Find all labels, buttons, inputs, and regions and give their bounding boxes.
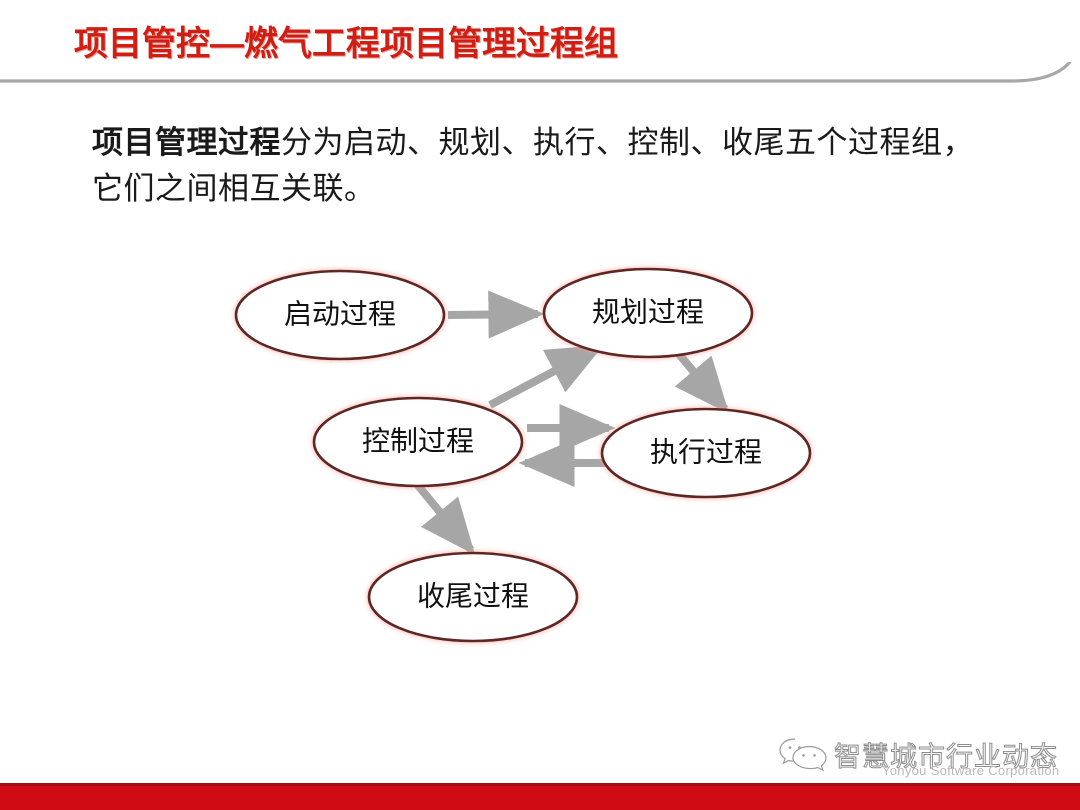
node-controlling[interactable]: 控制过程 <box>314 398 522 486</box>
node-initiating-label: 启动过程 <box>284 298 396 330</box>
diagram-nodes: 启动过程 规划过程 控制过程 执行过程 收尾过程 <box>236 269 810 641</box>
edge-controlling-to-planning <box>490 348 598 405</box>
node-executing-label: 执行过程 <box>650 436 762 468</box>
wechat-icon <box>778 735 830 775</box>
node-initiating[interactable]: 启动过程 <box>236 271 444 359</box>
body-paragraph: 项目管理过程分为启动、规划、执行、控制、收尾五个过程组，它们之间相互关联。 <box>92 120 982 212</box>
node-planning[interactable]: 规划过程 <box>544 269 752 357</box>
edge-controlling-to-closing <box>416 483 471 550</box>
slide-canvas: 项目管控—燃气工程项目管理过程组 项目管理过程分为启动、规划、执行、控制、收尾五… <box>0 0 1080 810</box>
page-title: 项目管控—燃气工程项目管理过程组 <box>74 16 618 65</box>
node-closing[interactable]: 收尾过程 <box>369 553 577 641</box>
footer-watermark: 智慧城市行业动态 Yonyou Software Corporation <box>778 733 1068 785</box>
node-closing-label: 收尾过程 <box>417 580 529 612</box>
bottom-accent-bar <box>0 783 1080 810</box>
node-executing[interactable]: 执行过程 <box>602 409 810 497</box>
node-controlling-label: 控制过程 <box>362 425 474 457</box>
process-group-diagram: 启动过程 规划过程 控制过程 执行过程 收尾过程 <box>200 245 880 665</box>
header-divider-rule <box>0 62 1080 96</box>
watermark-english-text: Yonyou Software Corporation <box>882 763 1059 778</box>
edge-planning-to-executing <box>678 353 725 409</box>
edge-initiating-to-planning <box>448 314 538 315</box>
body-lead-phrase: 项目管理过程 <box>92 125 281 160</box>
node-planning-label: 规划过程 <box>592 296 704 328</box>
